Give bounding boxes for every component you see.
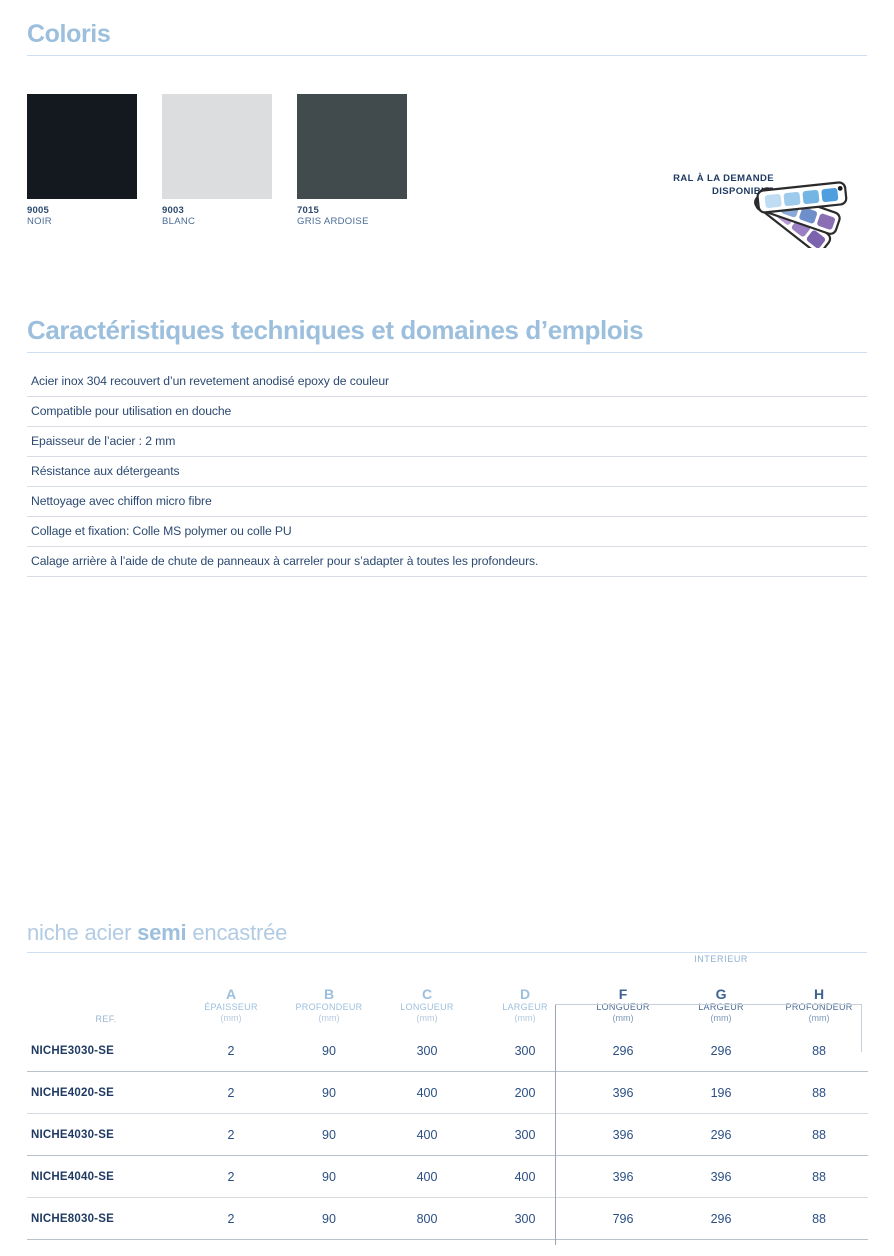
header-name: PROFONDEUR [281,1002,377,1013]
table-row[interactable]: NICHE4020-SE 2 90 400 200 396 196 88 [27,1072,868,1114]
row-ref: NICHE4040-SE [27,1156,182,1198]
header-col-B: B PROFONDEUR (mm) [280,970,378,1030]
cell-A: 2 [182,1030,280,1072]
header-letter: G [673,986,769,1002]
cell-G: 296 [672,1198,770,1240]
header-name: ÉPAISSEUR [183,1002,279,1013]
interieur-divider [555,1005,556,1245]
ral-badge: RAL À LA DEMANDE DISPONIBLE [630,160,870,250]
cell-D: 300 [476,1198,574,1240]
cell-G: 196 [672,1072,770,1114]
cell-A: 2 [182,1114,280,1156]
color-chip [297,94,407,199]
cell-C: 400 [378,1114,476,1156]
header-letter: A [183,986,279,1002]
header-letter: D [477,986,573,1002]
caracteristiques-heading: Caractéristiques techniques et domaines … [27,315,867,353]
list-item: Résistance aux détergeants [27,457,867,487]
header-unit: (mm) [281,1013,377,1024]
cell-B: 90 [280,1030,378,1072]
cell-C: 400 [378,1156,476,1198]
cell-D: 400 [476,1156,574,1198]
color-chip [27,94,137,199]
cell-A: 2 [182,1198,280,1240]
cell-F: 396 [574,1156,672,1198]
list-item: Nettoyage avec chiffon micro fibre [27,487,867,517]
color-name: GRIS ARDOISE [297,216,407,227]
row-ref: NICHE3030-SE [27,1030,182,1072]
coloris-heading: Coloris [27,20,867,56]
color-swatch-9003[interactable]: 9003 BLANC [162,94,272,227]
cell-H: 88 [770,1114,868,1156]
table-group-row: INTERIEUR [27,953,868,970]
cell-F: 396 [574,1072,672,1114]
table-title: niche acier semi encastrée [27,920,867,953]
list-item: Compatible pour utilisation en douche [27,397,867,427]
cell-C: 400 [378,1072,476,1114]
cell-F: 796 [574,1198,672,1240]
cell-G: 296 [672,1114,770,1156]
table-title-suffix: encastrée [186,920,287,945]
header-ref: REF. [27,970,182,1030]
cell-D: 300 [476,1114,574,1156]
cell-B: 90 [280,1072,378,1114]
cell-H: 88 [770,1198,868,1240]
cell-G: 396 [672,1156,770,1198]
header-unit: (mm) [379,1013,475,1024]
header-unit: (mm) [183,1013,279,1024]
group-label-interieur: INTERIEUR [574,953,868,970]
cell-A: 2 [182,1072,280,1114]
dimension-diagram-svg: H D G F C [0,575,894,905]
table-body: NICHE3030-SE 2 90 300 300 296 296 88 NIC… [27,1030,868,1240]
table-title-prefix: niche acier [27,920,137,945]
color-fan-icon [750,160,868,248]
header-letter: B [281,986,377,1002]
specs-table: INTERIEUR REF. A ÉPAISSEUR (mm) B PROFON… [27,953,868,1240]
row-ref: NICHE8030-SE [27,1198,182,1240]
color-name: NOIR [27,216,137,227]
row-ref: NICHE4030-SE [27,1114,182,1156]
header-name: LONGUEUR [379,1002,475,1013]
interieur-group-box [555,1004,862,1052]
table-row[interactable]: NICHE8030-SE 2 90 800 300 796 296 88 [27,1198,868,1240]
color-swatch-9005[interactable]: 9005 NOIR [27,94,137,227]
color-code: 7015 [297,205,407,216]
table-title-bold: semi [137,920,186,945]
table-section: niche acier semi encastrée INTERIEUR REF… [27,920,867,1240]
header-col-C: C LONGUEUR (mm) [378,970,476,1030]
color-swatch-7015[interactable]: 7015 GRIS ARDOISE [297,94,407,227]
color-code: 9003 [162,205,272,216]
header-letter: H [771,986,867,1002]
list-item: Epaisseur de l’acier : 2 mm [27,427,867,457]
caracteristiques-section: Caractéristiques techniques et domaines … [27,315,867,577]
list-item: Collage et fixation: Colle MS polymer ou… [27,517,867,547]
color-code: 9005 [27,205,137,216]
cell-F: 396 [574,1114,672,1156]
header-letter: F [575,986,671,1002]
cell-A: 2 [182,1156,280,1198]
cell-B: 90 [280,1198,378,1240]
cell-B: 90 [280,1114,378,1156]
technical-drawing: H D G F C [0,575,894,905]
spec-list: Acier inox 304 recouvert d’un revetement… [27,367,867,577]
cell-H: 88 [770,1072,868,1114]
list-item: Calage arrière à l’aide de chute de pann… [27,547,867,577]
header-col-A: A ÉPAISSEUR (mm) [182,970,280,1030]
table-row[interactable]: NICHE4030-SE 2 90 400 300 396 296 88 [27,1114,868,1156]
row-ref: NICHE4020-SE [27,1072,182,1114]
cell-C: 300 [378,1030,476,1072]
header-letter: C [379,986,475,1002]
cell-C: 800 [378,1198,476,1240]
color-name: BLANC [162,216,272,227]
color-chip [162,94,272,199]
list-item: Acier inox 304 recouvert d’un revetement… [27,367,867,397]
coloris-section: Coloris 9005 NOIR 9003 BLANC 7015 GRIS A… [27,20,867,56]
cell-D: 200 [476,1072,574,1114]
table-row[interactable]: NICHE4040-SE 2 90 400 400 396 396 88 [27,1156,868,1198]
cell-B: 90 [280,1156,378,1198]
cell-H: 88 [770,1156,868,1198]
